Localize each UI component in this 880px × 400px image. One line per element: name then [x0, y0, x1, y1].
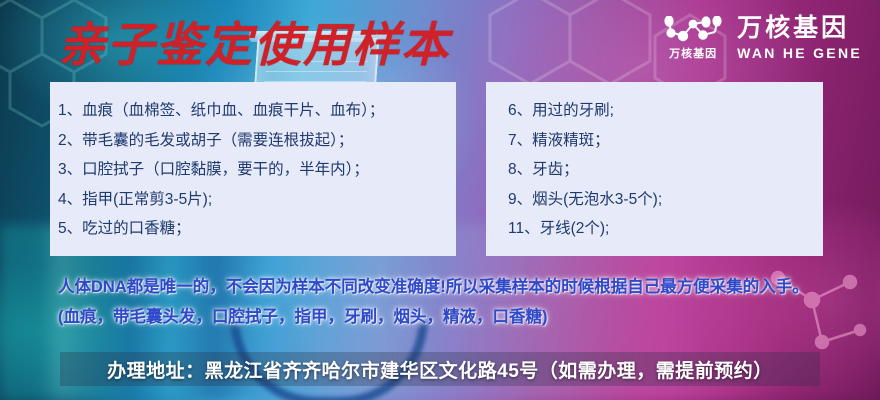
- list-item: 2、带毛囊的毛发或胡子（需要连根拔起）；: [58, 126, 456, 156]
- brand-name: 万核基因 WAN HE GENE: [737, 16, 862, 60]
- brand-logo: 万核基因 万核基因 WAN HE GENE: [663, 16, 862, 60]
- list-item: 5、吃过的口香糖；: [58, 214, 456, 244]
- list-item: 9、烟头(无泡水3-5个);: [508, 185, 823, 215]
- list-item: 4、指甲(正常剪3-5片);: [58, 185, 456, 215]
- list-item: 6、用过的牙刷;: [508, 96, 823, 126]
- brand-mark-label: 万核基因: [669, 49, 717, 60]
- brand-name-cn: 万核基因: [737, 16, 862, 41]
- page-title: 亲子鉴定使用样本: [58, 20, 450, 70]
- molecule-logo-icon: [663, 16, 723, 46]
- brand-name-en: WAN HE GENE: [737, 46, 862, 60]
- sample-list-card-left: 1、血痕（血棉签、纸巾血、血痕干片、血布）； 2、带毛囊的毛发或胡子（需要连根拔…: [50, 82, 456, 256]
- address-text: 办理地址：黑龙江省齐齐哈尔市建华区文化路45号（如需办理，需提前预约）: [60, 352, 820, 386]
- list-item: 7、精液精斑；: [508, 126, 823, 156]
- sample-list-left: 1、血痕（血棉签、纸巾血、血痕干片、血布）； 2、带毛囊的毛发或胡子（需要连根拔…: [58, 96, 456, 244]
- list-item: 3、口腔拭子（口腔黏膜，要干的，半年内）；: [58, 155, 456, 185]
- promo-banner: 亲子鉴定使用样本: [0, 0, 880, 400]
- sample-list-right: 6、用过的牙刷; 7、精液精斑； 8、牙齿； 9、烟头(无泡水3-5个); 11…: [508, 96, 823, 244]
- sample-list-card-right: 6、用过的牙刷; 7、精液精斑； 8、牙齿； 9、烟头(无泡水3-5个); 11…: [486, 82, 823, 256]
- dna-note-text: 人体DNA都是唯一的，不会因为样本不同改变准确度!所以采集样本的时候根据自己最方…: [58, 272, 828, 332]
- list-item: 8、牙齿；: [508, 155, 823, 185]
- list-item: 1、血痕（血棉签、纸巾血、血痕干片、血布）；: [58, 96, 456, 126]
- brand-mark: 万核基因: [663, 16, 723, 60]
- list-item: 11、牙线(2个);: [508, 214, 823, 244]
